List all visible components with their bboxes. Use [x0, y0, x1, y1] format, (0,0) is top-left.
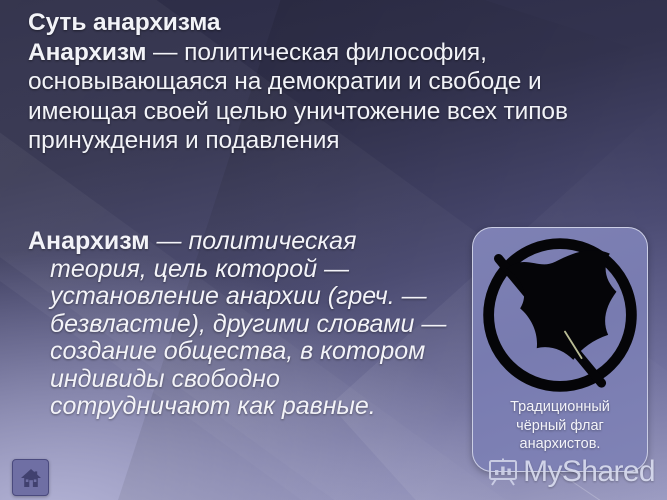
body-definition-paragraph: Анархизм — политическая теория, цель кот… — [28, 228, 448, 421]
title-definition-term: Анархизм — [28, 39, 146, 66]
body-definition-term: Анархизм — [28, 227, 150, 255]
presentation-slide: Суть анархизма Анархизм — политическая ф… — [0, 0, 667, 500]
myshared-watermark: MyShared — [488, 455, 655, 489]
watermark-text: MyShared — [523, 455, 655, 489]
picture-caption-line-2: чёрный флаг — [473, 417, 647, 436]
body-definition-text: — политическая теория, цель которой — ус… — [50, 227, 446, 420]
picture-caption-line-3: анархистов. — [473, 435, 647, 454]
slide-body-block: Анархизм — политическая теория, цель кот… — [28, 228, 448, 421]
black-flag-in-circle-icon — [477, 232, 643, 398]
presentation-board-icon — [488, 458, 518, 486]
picture-caption-line-1: Традиционный — [473, 398, 647, 417]
watermark-text-my: My — [523, 455, 562, 488]
picture-caption: Традиционный чёрный флаг анархистов. — [473, 398, 647, 454]
home-icon — [20, 468, 42, 488]
watermark-text-shared: Shared — [562, 455, 655, 488]
home-button[interactable] — [12, 459, 49, 496]
page-title: Суть анархизма — [28, 8, 648, 38]
picture-panel[interactable]: Традиционный чёрный флаг анархистов. — [472, 227, 648, 472]
slide-title-block: Суть анархизма Анархизм — политическая ф… — [28, 8, 648, 156]
title-definition-paragraph: Анархизм — политическая философия, основ… — [28, 38, 648, 156]
